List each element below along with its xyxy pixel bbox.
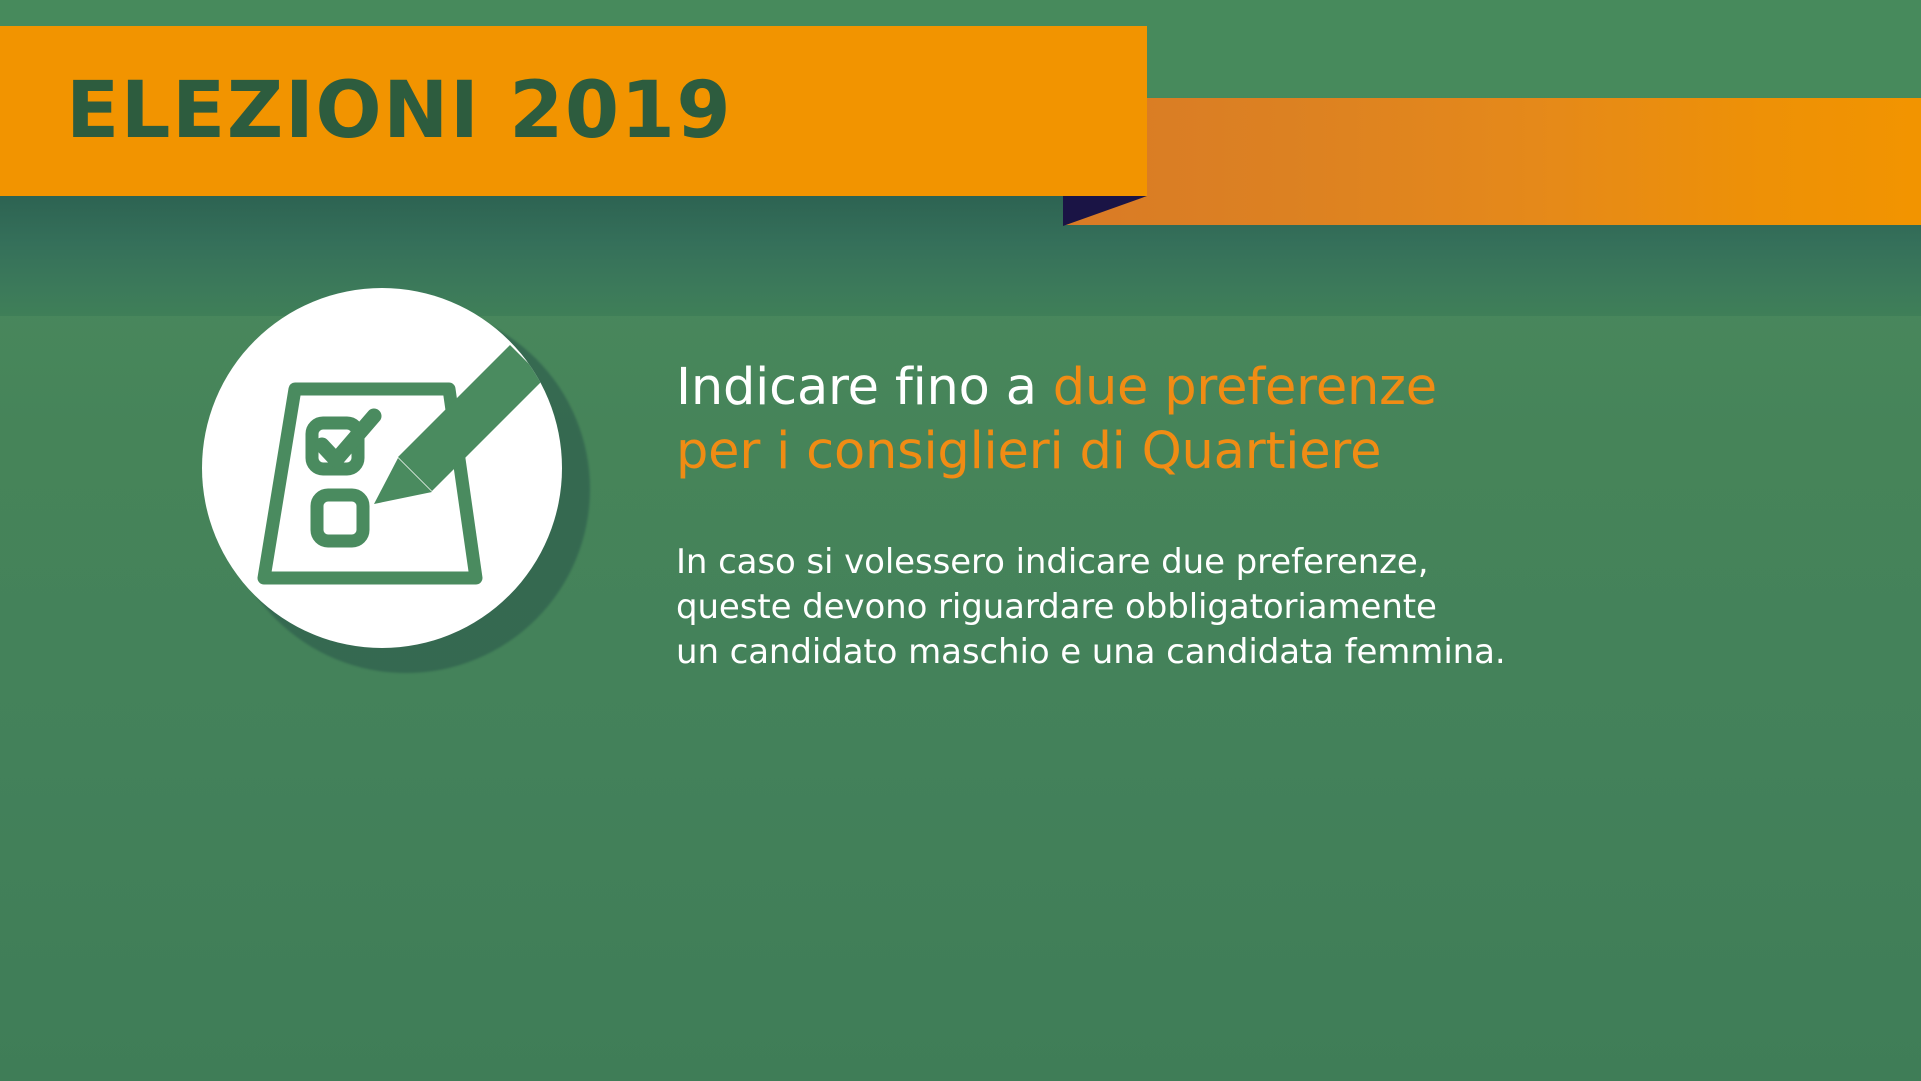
ballot-pencil-icon [202, 288, 562, 648]
headline-line-1: Indicare fino a due preferenze [676, 356, 1826, 420]
body-copy-line-1: In caso si volessero indicare due prefer… [676, 540, 1826, 585]
headline-line-1-white: Indicare fino a [676, 358, 1053, 417]
banner-secondary-band [1063, 98, 1921, 225]
banner-fold-triangle [1063, 196, 1147, 226]
headline-line-2: per i consiglieri di Quartiere [676, 420, 1826, 484]
body-copy-line-2: queste devono riguardare obbligatoriamen… [676, 585, 1826, 630]
body-copy: In caso si volessero indicare due prefer… [676, 540, 1826, 675]
page-title: ELEZIONI 2019 [66, 72, 732, 150]
headline-line-1-accent: due preferenze [1053, 358, 1437, 417]
body-copy-line-3: un candidato maschio e una candidata fem… [676, 630, 1826, 675]
slide-canvas: ELEZIONI 2019 [0, 0, 1921, 1081]
ballot-pencil-glyph [202, 288, 562, 648]
banner-main: ELEZIONI 2019 [0, 26, 1147, 196]
headline: Indicare fino a due preferenze per i con… [676, 356, 1826, 484]
copy-block: Indicare fino a due preferenze per i con… [676, 356, 1826, 675]
